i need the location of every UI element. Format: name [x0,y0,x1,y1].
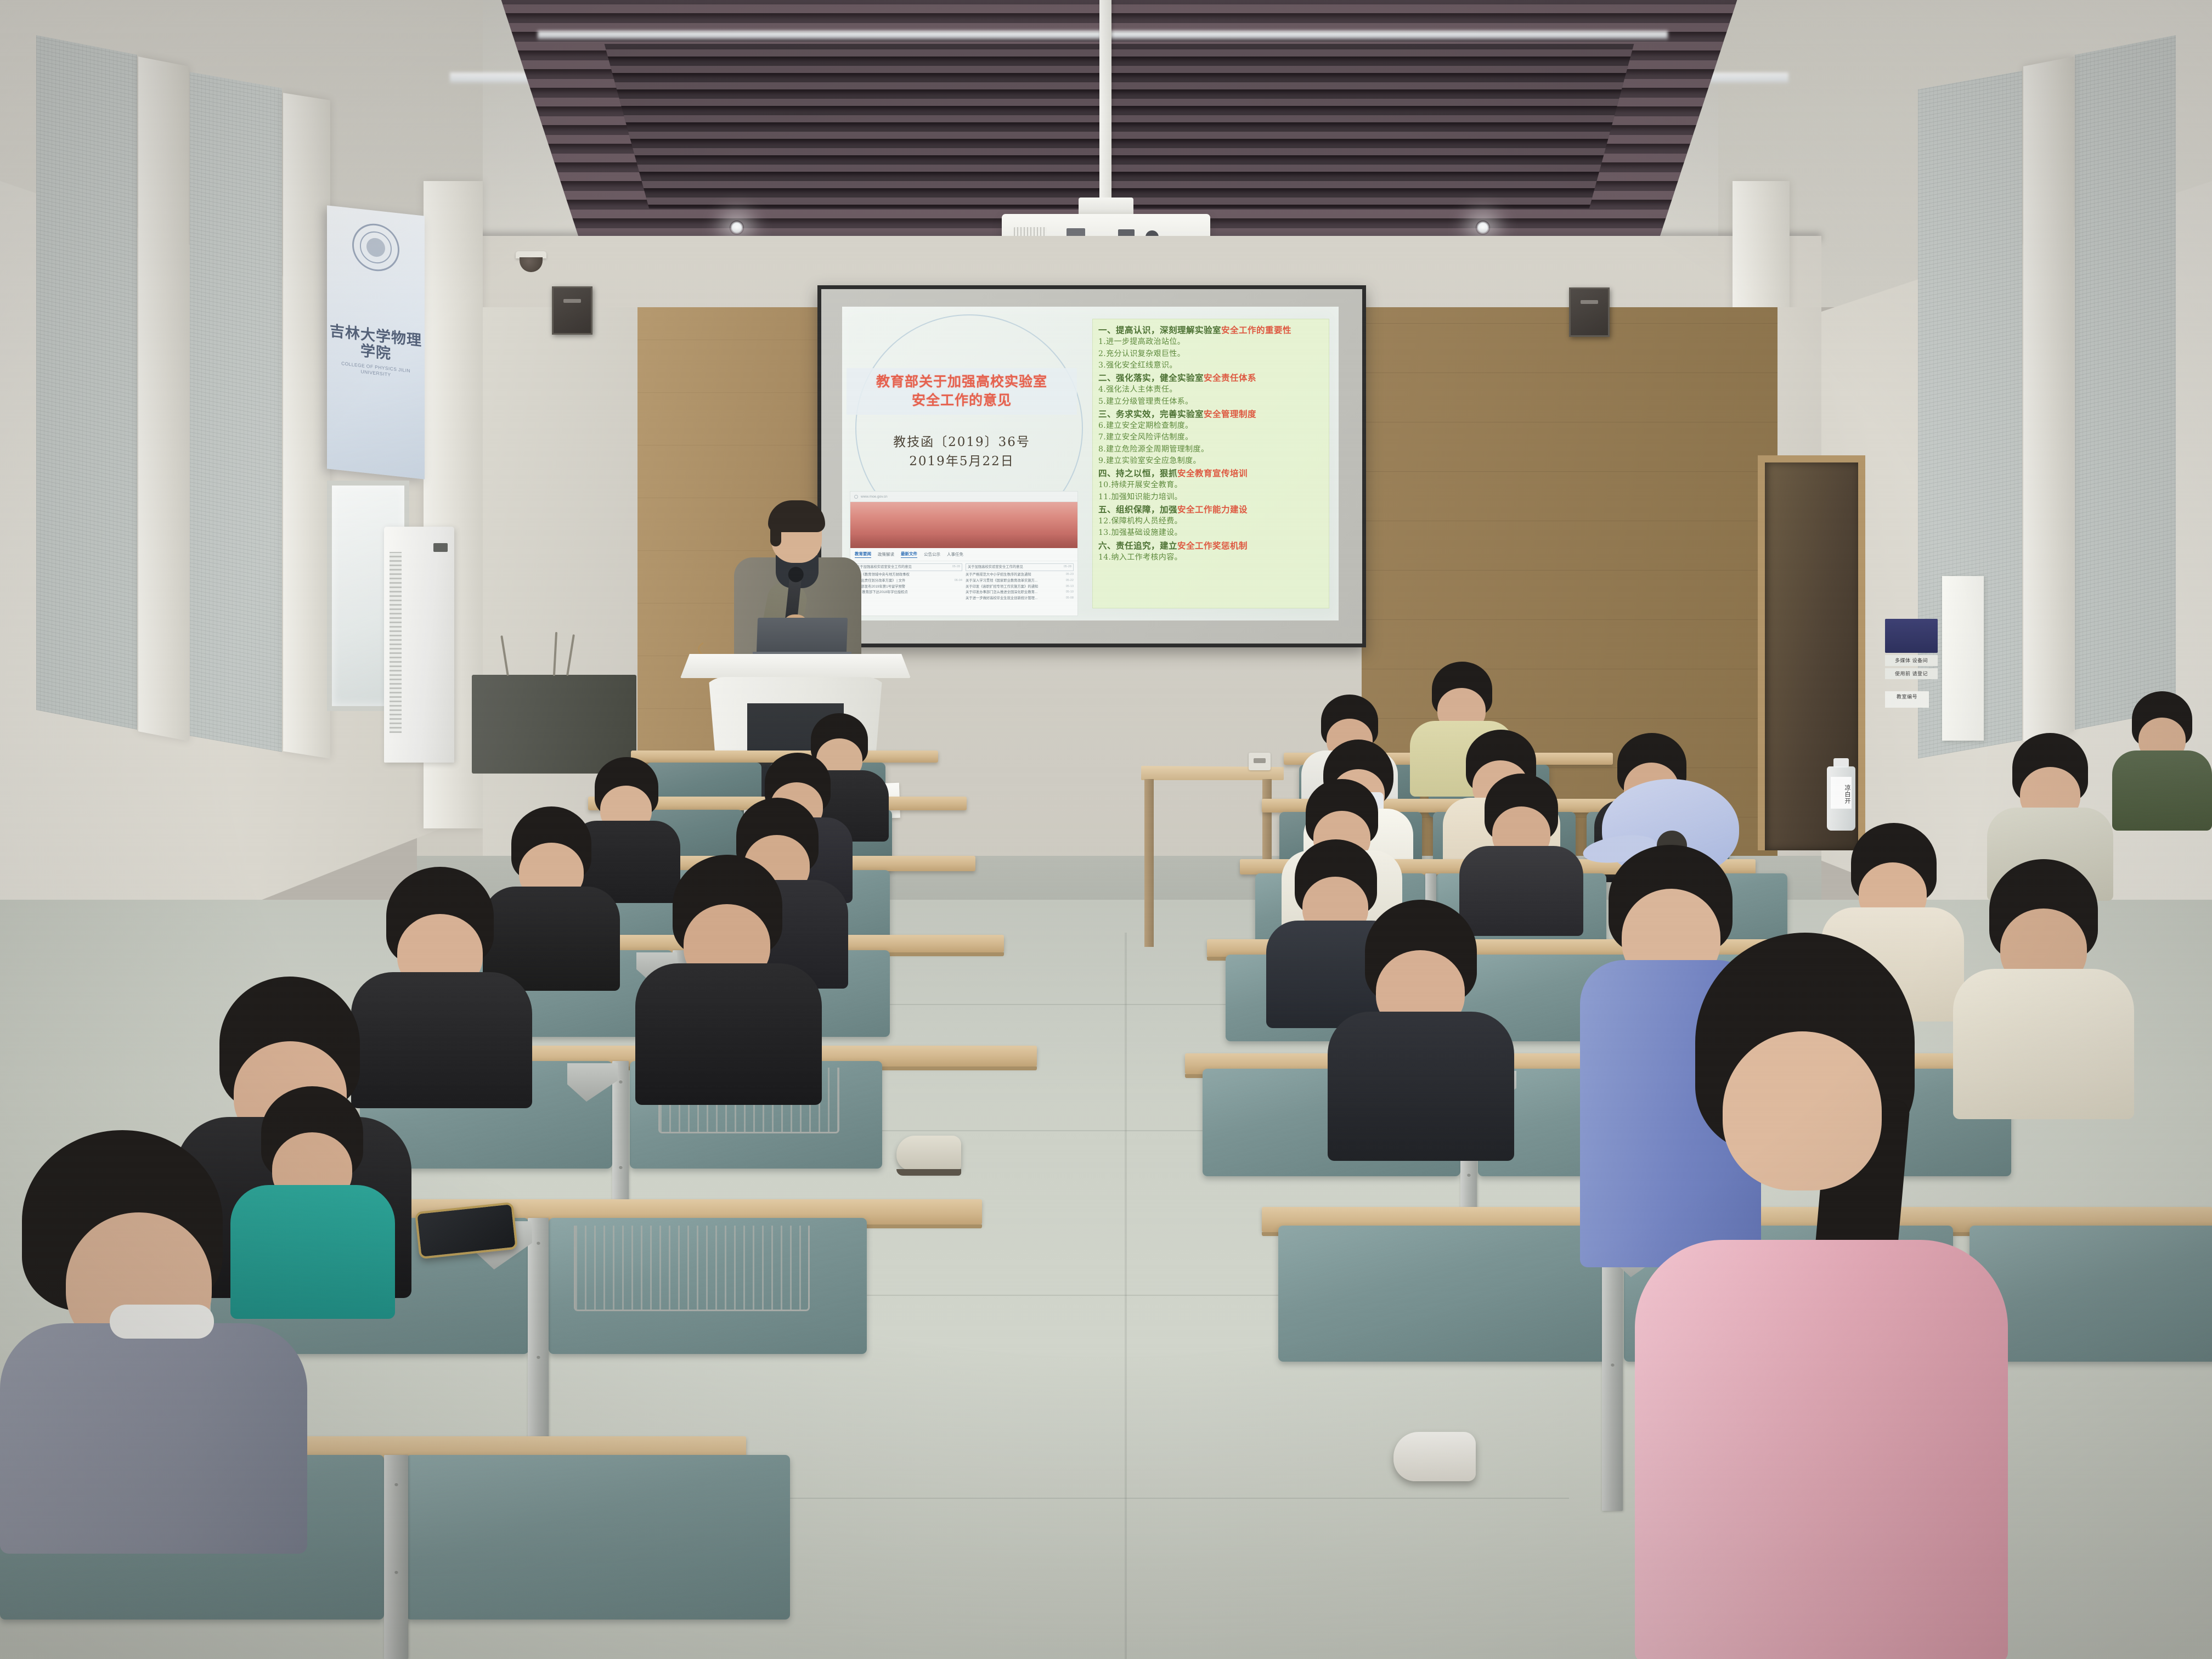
screenshot-nav-row: 教育要闻 政策解读 最新文件 公告公示 人事任免 [850,548,1077,561]
slide-outline-item: 2.充分认识复杂艰巨性。 [1098,348,1323,360]
attendee-left-teal [230,1086,395,1317]
list-item: 关于加强高校实验室安全工作的意见 05-28 [966,563,1074,571]
browser-dot-icon [854,495,858,499]
screenshot-url-bar: www.moe.gov.cn [850,492,1077,502]
screenshot-url-text: www.moe.gov.cn [861,495,888,499]
wall-speaker-right [1569,287,1610,337]
slide-outline-item: 3.强化安全红线意识。 [1098,360,1323,371]
list-item: 通知 教育部下达2018年学位授权点 [854,590,962,595]
slide-outline-item: 1.进一步提高政治站位。 [1098,336,1323,348]
attendee-pink [1635,933,2008,1659]
acoustic-panel-right-1 [2075,35,2176,730]
list-item: 和支出责任划分改革方案》 | 文件 06-04 [854,579,962,583]
slide-title-line-1: 教育部关于加强高校实验室 [849,373,1075,391]
slide-outline-item: 6.建立安全定期检查制度。 [1098,420,1323,432]
list-item: 关于进一步做好高校毕业生就业创新统计管理... 05-08 [966,596,1074,601]
floor-joint-4 [713,1498,1569,1499]
university-emblem-icon [352,221,399,273]
list-item: 关于加强高校实验室安全工作的意见 05-28 [854,563,962,571]
floor-standing-air-conditioner [384,527,454,763]
slide-outline-item: 9.建立实验室安全应急制度。 [1098,455,1323,467]
pilaster-left-2 [283,93,330,759]
projector-mount-plate [1079,198,1133,216]
slide-doc-date: 2019年5月22日 [847,452,1077,471]
slide-outline-heading: 六、责任追究，建立安全工作奖惩机制 [1098,539,1323,552]
list-item: 关于印发《高职扩招专项工作实施方案》的通知 05-13 [966,585,1074,589]
wall-access-panel [1942,576,1984,741]
sign-line-3: 教室编号 [1885,691,1929,708]
equipment-room-sign: 多媒体 设备间 使用前 请登记 教室编号 [1885,619,1938,711]
seat-frame-g [384,1455,408,1659]
list-item: 关于印发办事部门怎么推进全国深化职业教育... 05-10 [966,590,1074,595]
slide-doc-number: 教技函〔2019〕36号 [847,433,1077,452]
acoustic-panel-left-2 [190,72,282,752]
slide-outline-item: 12.保障机构人员经费。 [1098,516,1323,527]
list-item: 教育部发布2019年第1号留学预警 [854,585,962,589]
pilaster-left-1 [138,57,189,741]
sneaker-in-aisle-right [1393,1432,1476,1481]
attendee-left-hood-2 [635,855,822,1102]
slide-outline-item: 5.建立分级管理责任体系。 [1098,396,1323,408]
screenshot-column-left: 关于加强高校实验室安全工作的意见 05-28 印发《教育领域中央与地方财政事权 … [854,563,962,601]
projected-slide: 教育部关于加强高校实验室 安全工作的意见 教技函〔2019〕36号 2019年5… [842,307,1339,620]
slide-outline-heading: 五、组织保障，加强安全工作能力建设 [1098,503,1323,516]
water-bottle[interactable]: 凉白开 [1827,758,1855,831]
seat-frame-fr [1602,1226,1623,1511]
projector-port-1 [1066,228,1085,236]
ceiling-dome-camera [516,251,546,272]
slide-outline-item: 4.强化法人主体责任。 [1098,384,1323,396]
screenshot-nav-2: 最新文件 [901,551,917,558]
wall-power-outlet [1249,753,1271,770]
backpack-under-desk [574,1226,810,1311]
collar-white [110,1305,214,1339]
lecture-hall-photo: 吉林大学物理学院 COLLEGE OF PHYSICS JILIN UNIVER… [0,0,2212,1659]
slide-outline-item: 13.加强基础设施建设。 [1098,527,1323,539]
list-item: 印发《教育领域中央与地方财政事权 [854,573,962,577]
slide-outline-item: 10.持续开展安全教育。 [1098,479,1323,491]
slide-outline-heading: 三、务求实效，完善实验室安全管理制度 [1098,408,1323,420]
pilaster-right-1 [2023,57,2074,741]
slide-outline-heading: 二、强化落实，健全实验室安全责任体系 [1098,371,1323,384]
slide-outline-item: 7.建立安全风险评估制度。 [1098,432,1323,443]
department-banner: 吉林大学物理学院 COLLEGE OF PHYSICS JILIN UNIVER… [327,205,425,479]
projector-mount-pole [1099,0,1111,201]
screenshot-nav-1: 政策解读 [878,551,894,557]
list-item: 关于严格规范大中小学招生秩序的紧急通知 05-23 [966,573,1074,577]
slide-title-block: 教育部关于加强高校实验室 安全工作的意见 [847,368,1077,415]
projection-screen-surface: 教育部关于加强高校实验室 安全工作的意见 教技函〔2019〕36号 2019年5… [821,289,1362,644]
screenshot-column-right: 关于加强高校实验室安全工作的意见 05-28 关于严格规范大中小学招生秩序的紧急… [966,563,1074,601]
projector-control-icon [1885,619,1938,653]
slide-outline-item: 8.建立危险源全周期管理制度。 [1098,444,1323,455]
banner-title: 吉林大学物理学院 [327,323,425,366]
bottle-label: 凉白开 [1831,777,1852,809]
floor-joint-center [1125,933,1127,1659]
ceiling-slat-panel-inner [560,44,1679,208]
slide-outline-heading: 一、提高认识，深刻理解实验室安全工作的重要性 [1098,324,1323,336]
projection-screen: 教育部关于加强高校实验室 安全工作的意见 教技函〔2019〕36号 2019年5… [817,285,1366,647]
list-item: 关于深入学习贯彻《国家职业教育改革实施方... 05-22 [966,579,1074,583]
sign-line-1: 多媒体 设备间 [1885,655,1938,666]
seat-g2[interactable] [406,1455,790,1620]
screenshot-nav-4: 人事任免 [947,551,963,557]
slide-website-screenshot: www.moe.gov.cn 教育要闻 政策解读 最新文件 公告公示 人事任免 … [850,491,1078,616]
slide-outline-heading: 四、持之以恒，狠抓安全教育宣传培训 [1098,467,1323,479]
slide-document-meta: 教技函〔2019〕36号 2019年5月22日 [847,433,1077,471]
attendee-right-e1 [1328,900,1514,1158]
screenshot-hero-banner [850,502,1077,548]
seat-fr1[interactable] [1278,1226,1607,1362]
shoe-in-aisle-left [896,1136,961,1171]
wall-speaker-left [552,286,592,335]
slide-title-line-2: 安全工作的意见 [849,391,1075,410]
slide-outline-item: 14.纳入工作考核内容。 [1098,552,1323,563]
screenshot-link-columns: 关于加强高校实验室安全工作的意见 05-28 印发《教育领域中央与地方财政事权 … [850,561,1077,603]
screenshot-nav-3: 公告公示 [924,551,940,557]
sign-line-2: 使用前 请登记 [1885,668,1938,679]
attendee-right-corner [2112,691,2212,828]
acoustic-panel-left-1 [36,35,137,730]
slide-outline-item: 11.加强知识能力培训。 [1098,492,1323,503]
slide-outline-list: 一、提高认识，深刻理解实验室安全工作的重要性1.进一步提高政治站位。2.充分认识… [1092,319,1329,608]
